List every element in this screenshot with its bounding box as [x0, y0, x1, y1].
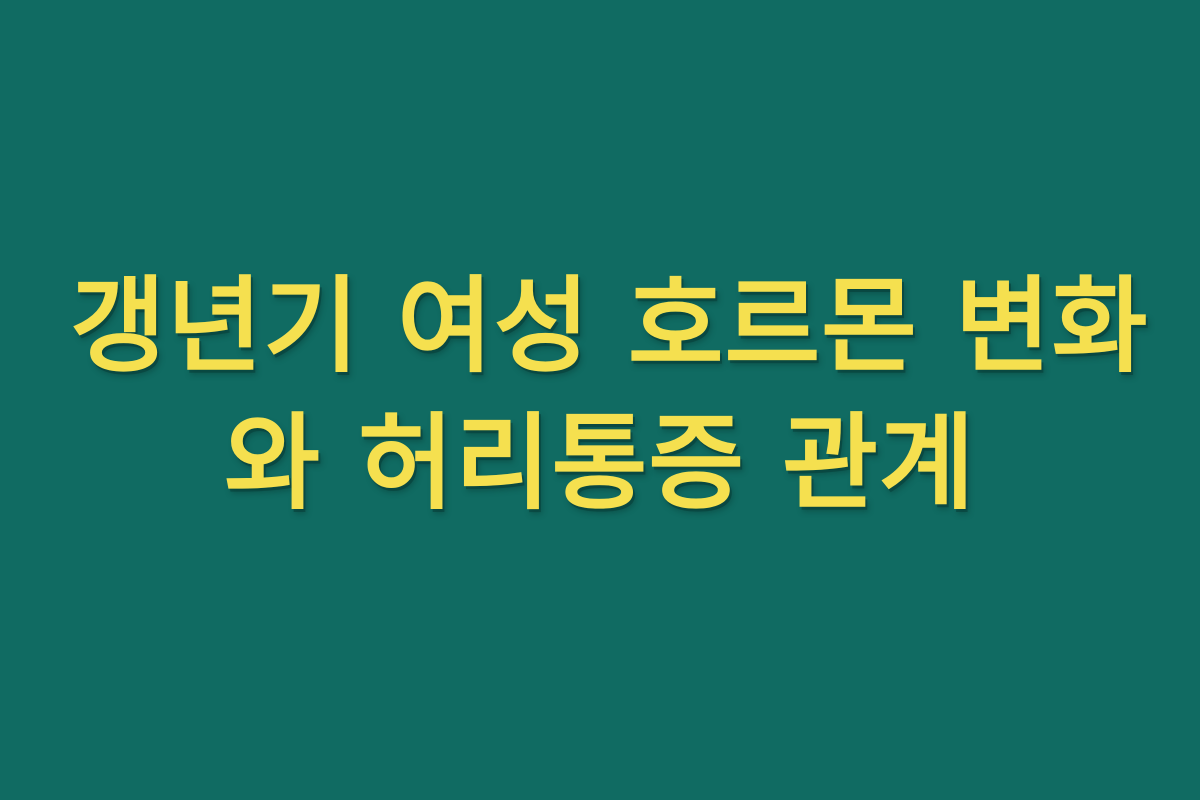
title-block: 갱년기 여성 호르몬 변화 와 허리통증 관계 — [70, 258, 1130, 532]
title-line-2: 와 허리통증 관계 — [70, 395, 1130, 532]
title-line-1: 갱년기 여성 호르몬 변화 — [70, 258, 1130, 395]
banner-canvas: 갱년기 여성 호르몬 변화 와 허리통증 관계 — [0, 0, 1200, 800]
